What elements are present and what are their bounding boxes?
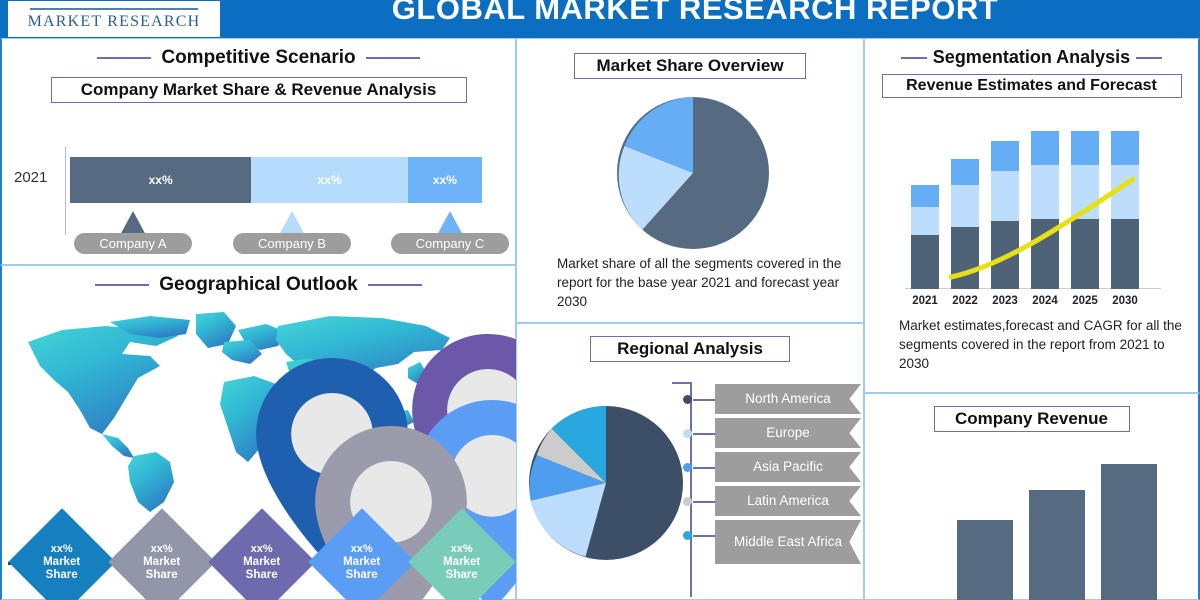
region-dot-north-america [683, 395, 692, 404]
segmentation-section-title-text: Segmentation Analysis [933, 47, 1130, 68]
bar-seg1-2025 [1071, 219, 1099, 289]
stacked-bar-2021[interactable] [911, 185, 939, 289]
regional-list: North America Europe Asia Pacific Latin … [685, 382, 861, 552]
region-connector [693, 501, 715, 503]
bar-seg2-2030 [1111, 165, 1139, 219]
diamond-line1-3: Market [243, 556, 280, 568]
logo[interactable]: MARKET RESEARCH [8, 1, 220, 37]
competitive-subtitle-text: Company Market Share & Revenue Analysis [75, 80, 443, 100]
panel-company-revenue: Company Revenue [864, 393, 1200, 600]
diamond-pct-1: xx% [25, 543, 99, 556]
market-share-overview-title: Market Share Overview [574, 53, 806, 79]
list-item[interactable]: Middle East Africa [685, 518, 861, 552]
market-share-overview-title-text: Market Share Overview [590, 56, 789, 76]
title-rule-left [901, 57, 927, 59]
diamond-line1-2: Market [143, 556, 180, 568]
bar-seg1-2023 [991, 221, 1019, 289]
list-item[interactable]: Latin America [685, 484, 861, 518]
region-dot-latin-america [683, 497, 692, 506]
panel-segmentation-analysis: Segmentation Analysis Revenue Estimates … [864, 38, 1200, 393]
bar-segment-company-a[interactable]: xx% [70, 157, 251, 203]
list-item[interactable]: Asia Pacific [685, 450, 861, 484]
page-title: GLOBAL MARKET RESEARCH REPORT [220, 0, 1170, 24]
list-item[interactable]: Europe [685, 416, 861, 450]
diamond-pct-4: xx% [325, 543, 399, 556]
company-market-share-chart: 2021 xx% xx% xx% Company A Company B Com… [2, 139, 518, 264]
region-ribbon-north-america[interactable]: North America [715, 384, 861, 414]
bar-seg2-2025 [1071, 165, 1099, 219]
market-share-stacked-bar: xx% xx% xx% [70, 157, 482, 203]
geographical-section-title: Geographical Outlook [2, 274, 515, 296]
competitive-year-label: 2021 [14, 169, 47, 186]
bar-segment-company-b[interactable]: xx% [251, 157, 408, 203]
stacked-bar-2024[interactable] [1031, 131, 1059, 289]
company-revenue-title-text: Company Revenue [949, 409, 1114, 429]
bar-seg3-2023 [991, 141, 1019, 171]
competitive-section-title-text: Competitive Scenario [161, 47, 355, 69]
bar-seg3-2022 [951, 159, 979, 185]
diamond-line1-1: Market [43, 556, 80, 568]
region-ribbon-asia-pacific[interactable]: Asia Pacific [715, 452, 861, 482]
regional-analysis-pie[interactable] [529, 406, 683, 560]
region-connector [693, 399, 715, 401]
title-rule-left [97, 57, 151, 59]
x-label-2021: 2021 [908, 295, 942, 307]
x-label-2025: 2025 [1068, 295, 1102, 307]
bar-seg3-2025 [1071, 131, 1099, 165]
title-rule-left [95, 284, 149, 286]
stacked-bar-2023[interactable] [991, 141, 1019, 289]
logo-rule [30, 8, 198, 10]
bar-seg1-2024 [1031, 219, 1059, 289]
region-ribbon-middle-east-africa[interactable]: Middle East Africa [715, 520, 861, 564]
regional-analysis-title: Regional Analysis [590, 336, 790, 362]
geographical-section-title-text: Geographical Outlook [159, 274, 357, 296]
market-share-diamond-row: xx% Market Share xx% Market Share xx% Ma… [2, 524, 518, 600]
company-revenue-title: Company Revenue [934, 406, 1130, 432]
revenue-bar-2[interactable] [1029, 490, 1085, 600]
competitive-subtitle: Company Market Share & Revenue Analysis [51, 77, 467, 103]
competitive-section-title: Competitive Scenario [2, 47, 515, 69]
chart-axis [65, 147, 66, 235]
regional-analysis-title-text: Regional Analysis [611, 339, 769, 359]
diamond-line2-2: Share [146, 569, 178, 581]
bar-seg3-2021 [911, 185, 939, 207]
bar-seg2-2022 [951, 185, 979, 227]
x-label-2024: 2024 [1028, 295, 1062, 307]
company-revenue-chart[interactable] [865, 452, 1200, 600]
x-label-2022: 2022 [948, 295, 982, 307]
diamond-pct-2: xx% [125, 543, 199, 556]
x-label-2030: 2030 [1108, 295, 1142, 307]
market-share-overview-description: Market share of all the segments covered… [557, 254, 847, 311]
bar-seg3-2030 [1111, 131, 1139, 165]
region-dot-europe [683, 429, 692, 438]
region-dot-asia-pacific [683, 463, 692, 472]
panel-geographical-outlook: Geographical Outlook [0, 265, 516, 600]
title-rule-right [366, 57, 420, 59]
panel-competitive-scenario: Competitive Scenario Company Market Shar… [0, 38, 516, 265]
panel-regional-analysis: Regional Analysis North America Eur [516, 323, 864, 600]
segmentation-description: Market estimates,forecast and CAGR for a… [899, 316, 1194, 373]
diamond-pct-5: xx% [425, 543, 499, 556]
diamond-label-2: xx% Market Share [125, 543, 199, 582]
region-dot-middle-east-africa [683, 531, 692, 540]
diamond-label-5: xx% Market Share [425, 543, 499, 582]
segmentation-section-title: Segmentation Analysis [865, 47, 1198, 68]
region-connector [693, 433, 715, 435]
legend-pill-company-b[interactable]: Company B [233, 233, 351, 254]
bar-seg2-2024 [1031, 165, 1059, 219]
header-bar: MARKET RESEARCH GLOBAL MARKET RESEARCH R… [0, 0, 1200, 38]
market-share-overview-pie[interactable] [617, 97, 769, 249]
x-label-2023: 2023 [988, 295, 1022, 307]
diamond-line2-5: Share [446, 569, 478, 581]
legend-pill-company-c[interactable]: Company C [391, 233, 509, 254]
diamond-line2-4: Share [346, 569, 378, 581]
diamond-line2-1: Share [46, 569, 78, 581]
bar-seg2-2023 [991, 171, 1019, 221]
list-item[interactable]: North America [685, 382, 861, 416]
stacked-bar-2022[interactable] [951, 159, 979, 289]
revenue-bar-3[interactable] [1101, 464, 1157, 600]
diamond-line1-4: Market [343, 556, 380, 568]
logo-text: MARKET RESEARCH [28, 13, 201, 31]
report-infographic: MARKET RESEARCH GLOBAL MARKET RESEARCH R… [0, 0, 1200, 600]
bar-seg3-2024 [1031, 131, 1059, 165]
diamond-pct-3: xx% [225, 543, 299, 556]
segmentation-subtitle-text: Revenue Estimates and Forecast [900, 77, 1163, 95]
diamond-label-3: xx% Market Share [225, 543, 299, 582]
segmentation-revenue-chart[interactable]: 2021 2022 2023 2024 2025 2030 [905, 135, 1161, 307]
region-connector [693, 535, 715, 537]
bar-seg2-2021 [911, 207, 939, 235]
segmentation-subtitle: Revenue Estimates and Forecast [882, 74, 1182, 98]
bar-seg1-2030 [1111, 219, 1139, 289]
panel-market-share-overview: Market Share Overview Market share of al… [516, 38, 864, 323]
bar-segment-company-c[interactable]: xx% [408, 157, 482, 203]
bar-seg1-2021 [911, 235, 939, 289]
diamond-label-1: xx% Market Share [25, 543, 99, 582]
title-rule-right [368, 284, 422, 286]
region-ribbon-europe[interactable]: Europe [715, 418, 861, 448]
region-connector [693, 467, 715, 469]
legend-pill-company-a[interactable]: Company A [74, 233, 192, 254]
diamond-line2-3: Share [246, 569, 278, 581]
region-ribbon-latin-america[interactable]: Latin America [715, 486, 861, 516]
bar-seg1-2022 [951, 227, 979, 289]
revenue-bar-1[interactable] [957, 520, 1013, 600]
diamond-line1-5: Market [443, 556, 480, 568]
title-rule-right [1136, 57, 1162, 59]
world-map[interactable] [10, 306, 510, 516]
stacked-bar-2025[interactable] [1071, 131, 1099, 289]
stacked-bar-2030[interactable] [1111, 131, 1139, 289]
diamond-label-4: xx% Market Share [325, 543, 399, 582]
